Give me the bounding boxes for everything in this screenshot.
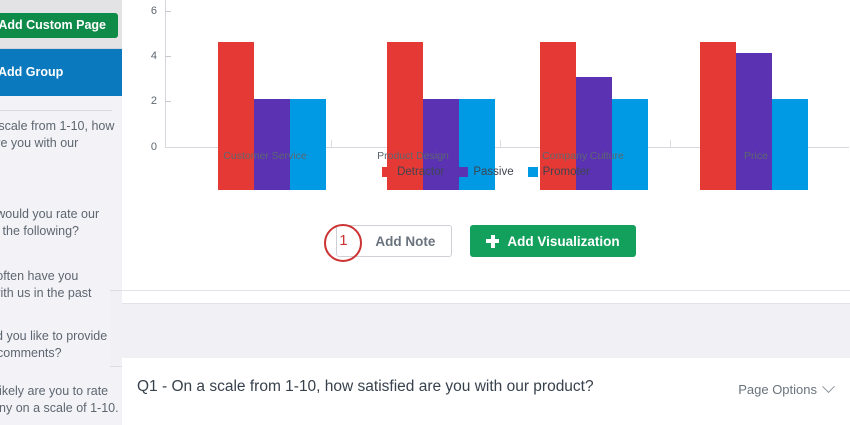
sidebar-panel-edge: [110, 290, 122, 367]
x-axis-label-product-design: Product Design: [377, 150, 449, 162]
plus-icon: [486, 235, 499, 248]
add-group-button[interactable]: Add Group: [0, 49, 122, 96]
legend-swatch-detractor: [382, 167, 392, 177]
main-content: 6 4 2 0: [122, 0, 850, 425]
x-axis-label-customer-service: Customer Service: [223, 150, 306, 162]
page-options-dropdown[interactable]: Page Options: [738, 382, 833, 397]
page-header-band: [122, 303, 850, 359]
add-group-label: Add Group: [0, 65, 63, 79]
survey-page-editor: Add Custom Page Add Group Q1 - On a scal…: [0, 0, 850, 425]
sidebar-item-q3[interactable]: Q3 - How often have you shopped with us …: [0, 268, 120, 319]
page-title: Q1 - On a scale from 1-10, how satisfied…: [137, 378, 594, 396]
legend-item-passive[interactable]: Passive: [458, 166, 513, 178]
chart-legend: Detractor Passive Promoter: [122, 166, 850, 178]
legend-label-promoter: Promoter: [543, 166, 590, 178]
add-visualization-button[interactable]: Add Visualization: [470, 225, 635, 257]
sidebar-item-q1[interactable]: Q1 - On a scale from 1-10, how satisfied…: [0, 118, 120, 169]
chart-actions-toolbar: 1 Add Note Add Visualization: [122, 224, 850, 258]
chevron-down-icon: [822, 380, 835, 393]
legend-label-detractor: Detractor: [397, 166, 444, 178]
add-note-label: Add Note: [375, 234, 435, 249]
legend-swatch-passive: [458, 167, 468, 177]
add-visualization-label: Add Visualization: [507, 234, 619, 249]
legend-item-detractor[interactable]: Detractor: [382, 166, 444, 178]
add-note-button[interactable]: 1 Add Note: [336, 225, 452, 257]
page-options-label: Page Options: [738, 382, 817, 397]
x-axis-label-company-culture: Company Culture: [542, 150, 624, 162]
x-axis-label-price: Price: [744, 150, 768, 162]
legend-item-promoter[interactable]: Promoter: [528, 166, 590, 178]
sidebar-item-q2[interactable]: Q2 - How would you rate our product on t…: [0, 206, 120, 240]
nps-bar-chart: 6 4 2 0: [122, 0, 850, 190]
add-custom-page-button[interactable]: Add Custom Page: [0, 13, 118, 38]
annotation-marker-1: 1: [324, 224, 362, 262]
sidebar: Add Custom Page Add Group Q1 - On a scal…: [0, 0, 123, 425]
question-section-header: Q1 - On a scale from 1-10, how satisfied…: [122, 358, 850, 425]
sidebar-item-q5[interactable]: Q5 - How likely are you to rate our comp…: [0, 383, 120, 417]
y-tick-label-6: 6: [151, 5, 157, 17]
sidebar-divider: [0, 110, 112, 111]
legend-label-passive: Passive: [473, 166, 513, 178]
panel-separator: [122, 290, 850, 291]
sidebar-item-q4[interactable]: Q4 - Would you like to provide additiona…: [0, 328, 120, 362]
legend-swatch-promoter: [528, 167, 538, 177]
